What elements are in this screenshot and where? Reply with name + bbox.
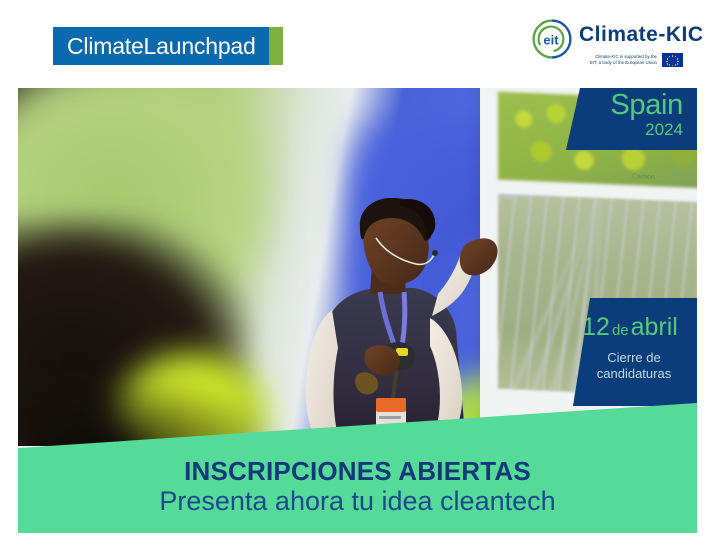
eit-climate-kic-wordmark: Climate-KIC xyxy=(579,24,704,45)
promo-poster: ClimateLaunchpad eit Climate-KIC Climate… xyxy=(0,0,715,555)
eit-support-statement: Climate-KIC is supported by the EIT, a b… xyxy=(577,53,683,67)
deadline-date-line: 12deabril xyxy=(573,313,687,342)
deadline-subtitle: Cierre de candidaturas xyxy=(579,350,689,383)
eit-support-text: Climate-KIC is supported by the EIT, a b… xyxy=(577,54,657,66)
svg-text:eit: eit xyxy=(543,33,559,48)
deadline-month: abril xyxy=(631,313,678,341)
speaker-figure xyxy=(280,198,510,446)
poster-header: ClimateLaunchpad eit Climate-KIC Climate… xyxy=(0,0,715,88)
cta-subline: Presenta ahora tu idea cleantech xyxy=(18,488,697,515)
spain-banner: Spain 2024 xyxy=(566,88,697,150)
spain-banner-title: Spain xyxy=(610,90,683,122)
eit-climate-kic-logo: eit Climate-KIC Climate-KIC is supported… xyxy=(531,18,683,70)
eit-circle-icon: eit xyxy=(531,18,573,60)
climatelaunchpad-logo: ClimateLaunchpad xyxy=(53,27,283,65)
climatelaunchpad-logo-box: ClimateLaunchpad xyxy=(53,27,269,65)
spain-banner-year: 2024 xyxy=(645,121,683,140)
european-union-flag-icon xyxy=(662,53,683,67)
deadline-banner: 12deabril Cierre de candidaturas xyxy=(573,298,697,406)
climatelaunchpad-logo-accent-bar xyxy=(269,27,283,65)
climatelaunchpad-logo-text: ClimateLaunchpad xyxy=(67,35,256,58)
deadline-connector: de xyxy=(610,322,631,339)
slide-caption-text: Carbon xyxy=(632,173,655,181)
cta-headline: INSCRIPCIONES ABIERTAS xyxy=(18,458,697,484)
